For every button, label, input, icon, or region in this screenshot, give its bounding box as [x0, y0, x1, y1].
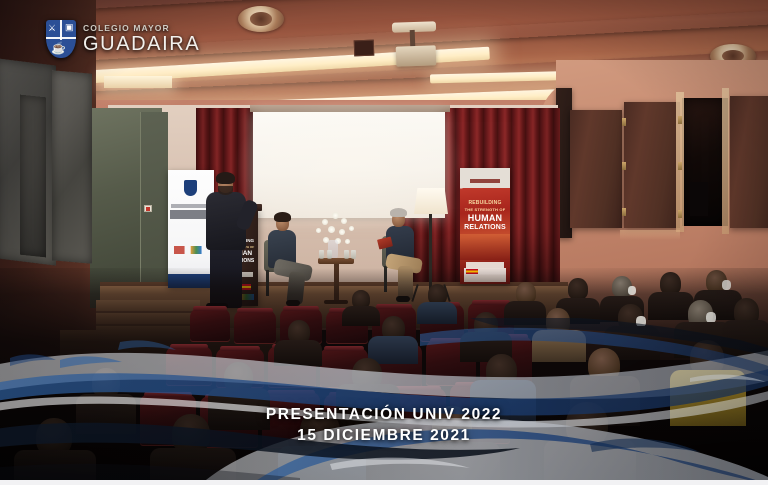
header-logo: ⚔ ▣ ☕ COLEGIO MAYOR GUADAIRA: [46, 20, 200, 58]
auditorium-photo: REBUILDING THE STRENGTH OF HUMAN RELATIO…: [0, 0, 768, 485]
hinge-icon: [678, 162, 682, 170]
shield-crest-icon: ⚔ ▣ ☕: [46, 20, 76, 58]
panel-light: [722, 88, 729, 234]
hinge-icon: [622, 118, 626, 126]
shield-crest-icon: [184, 180, 197, 196]
metal-wall-panel: [20, 95, 46, 258]
audience-area: [0, 268, 768, 485]
water-bottle: [344, 250, 349, 259]
logo-title: GUADAIRA: [83, 34, 200, 54]
niche-equipment: [690, 182, 708, 216]
water-bottle: [351, 250, 356, 259]
banner-header: [460, 168, 510, 188]
metal-wall-panel: [52, 70, 92, 263]
hinge-icon: [678, 210, 682, 218]
banner-line-strength: THE STRENGTH OF: [460, 207, 510, 212]
banner-cityscape-art: [460, 234, 510, 260]
logo-subtitle: COLEGIO MAYOR: [83, 24, 200, 33]
bottom-strip: [0, 480, 768, 485]
wood-panel: [570, 110, 622, 228]
hinge-icon: [678, 116, 682, 124]
logo-text: COLEGIO MAYOR GUADAIRA: [83, 24, 200, 54]
banner-line-relations: RELATIONS: [460, 224, 510, 231]
projector-icon: [396, 45, 437, 66]
banner-line-human: HUMAN: [460, 213, 510, 223]
screen-housing: [250, 105, 450, 112]
hinge-icon: [622, 162, 626, 170]
screenshot-root: REBUILDING THE STRENGTH OF HUMAN RELATIO…: [0, 0, 768, 485]
wood-panel: [624, 102, 680, 228]
exit-sign-icon: [144, 205, 152, 212]
banner-subtitle: [171, 204, 211, 208]
banner-line-rebuilding: REBUILDING: [460, 200, 510, 206]
wood-panel: [730, 96, 768, 228]
banner-sponsor-logos: [174, 246, 208, 254]
doorway-light: [104, 76, 172, 88]
banner-univ-rebuilding: REBUILDING THE STRENGTH OF HUMAN RELATIO…: [460, 168, 510, 284]
water-bottle: [327, 250, 332, 259]
floor-lamp-shade: [414, 188, 448, 214]
panel-light: [620, 230, 680, 240]
hinge-icon: [622, 208, 626, 216]
ceiling-vent: [354, 40, 375, 57]
water-bottle: [319, 250, 324, 259]
ceiling-speaker-icon: [238, 6, 284, 32]
